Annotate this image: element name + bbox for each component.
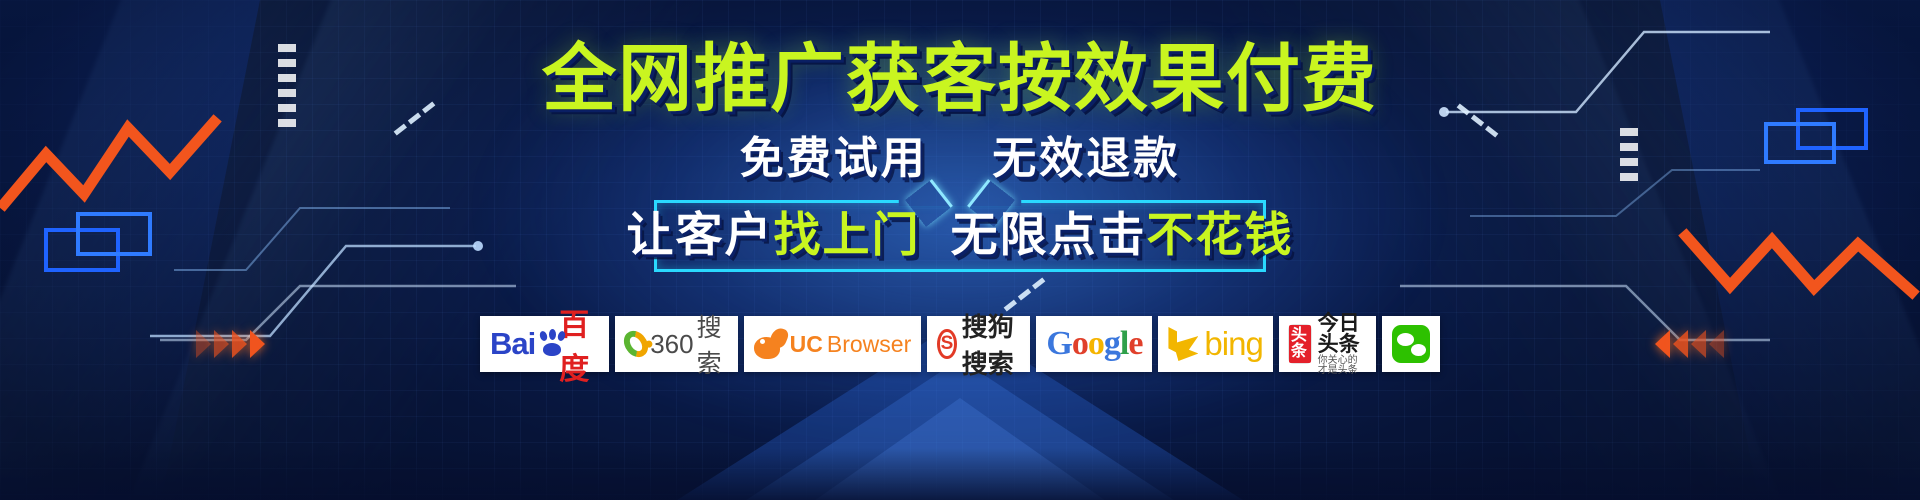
360-ring-icon bbox=[619, 326, 653, 362]
arrow-cluster-left bbox=[196, 330, 265, 358]
chevron-right-icon bbox=[250, 330, 265, 358]
chevron-left-icon bbox=[1709, 330, 1724, 358]
uc-squirrel-icon bbox=[754, 329, 786, 359]
highlight-left-plain: 让客户 bbox=[627, 208, 774, 261]
baidu-cn-text: 百度 bbox=[559, 300, 599, 388]
sogou-cn-text: 搜狗搜索 bbox=[962, 307, 1021, 381]
chevron-left-icon bbox=[1673, 330, 1688, 358]
toutiao-badge-icon: 头条 bbox=[1289, 325, 1311, 363]
highlight-line: 让客户找上门无限点击不花钱 bbox=[627, 211, 1294, 258]
promo-banner: 全网推广获客按效果付费 免费试用 无效退款 让客户找上门无限点击不花钱 bbox=[0, 0, 1920, 500]
bing-mark-icon bbox=[1168, 327, 1198, 361]
chevron-right-icon bbox=[232, 330, 247, 358]
highlight-left-accent: 找上门 bbox=[774, 208, 921, 261]
chevron-right-icon bbox=[196, 330, 211, 358]
wechat-icon bbox=[1392, 325, 1430, 363]
baidu-paw-icon bbox=[537, 329, 557, 359]
logo-card-bing[interactable]: bing bbox=[1158, 316, 1272, 372]
toutiao-badge-text: 头条 bbox=[1289, 325, 1311, 363]
subtitle-right: 无效退款 bbox=[992, 134, 1180, 183]
highlight-right-plain: 无限点击 bbox=[951, 208, 1147, 261]
logo-card-uc[interactable]: UC Browser bbox=[744, 316, 922, 372]
logo-card-sogou[interactable]: S 搜狗搜索 bbox=[927, 316, 1030, 372]
chevron-left-icon bbox=[1655, 330, 1670, 358]
arrow-cluster-right bbox=[1655, 330, 1724, 358]
bottom-shade bbox=[0, 448, 1920, 500]
bing-latin-text: bing bbox=[1204, 325, 1262, 363]
logo-card-google[interactable]: Google bbox=[1036, 316, 1152, 372]
360-latin-text: 360 bbox=[650, 329, 693, 360]
toutiao-tagline: 你关心的 才是头条 bbox=[1318, 356, 1366, 376]
logo-card-360[interactable]: 360 搜索 bbox=[615, 316, 737, 372]
logo-card-toutiao[interactable]: 头条 今日头条 你关心的 才是头条 bbox=[1279, 316, 1376, 372]
page-title: 全网推广获客按效果付费 bbox=[542, 42, 1378, 116]
sogou-circle-icon: S bbox=[937, 329, 957, 359]
logo-card-wechat[interactable] bbox=[1382, 316, 1440, 372]
subtitle-line: 免费试用 无效退款 bbox=[740, 137, 1180, 181]
partner-logo-strip: Bai 百度 360 搜索 UC Browser bbox=[480, 316, 1440, 372]
subtitle-left: 免费试用 bbox=[740, 134, 928, 183]
logo-card-baidu[interactable]: Bai 百度 bbox=[480, 316, 609, 372]
baidu-latin-text: Bai bbox=[490, 326, 535, 362]
highlight-right-accent: 不花钱 bbox=[1147, 208, 1294, 261]
toutiao-cn-text: 今日头条 bbox=[1318, 313, 1366, 355]
google-wordmark-icon: Google bbox=[1046, 325, 1142, 363]
chevron-left-icon bbox=[1691, 330, 1706, 358]
uc-browser-text: Browser bbox=[827, 331, 911, 358]
uc-latin-text: UC bbox=[790, 331, 823, 358]
chevron-right-icon bbox=[214, 330, 229, 358]
360-cn-text: 搜索 bbox=[697, 308, 728, 380]
